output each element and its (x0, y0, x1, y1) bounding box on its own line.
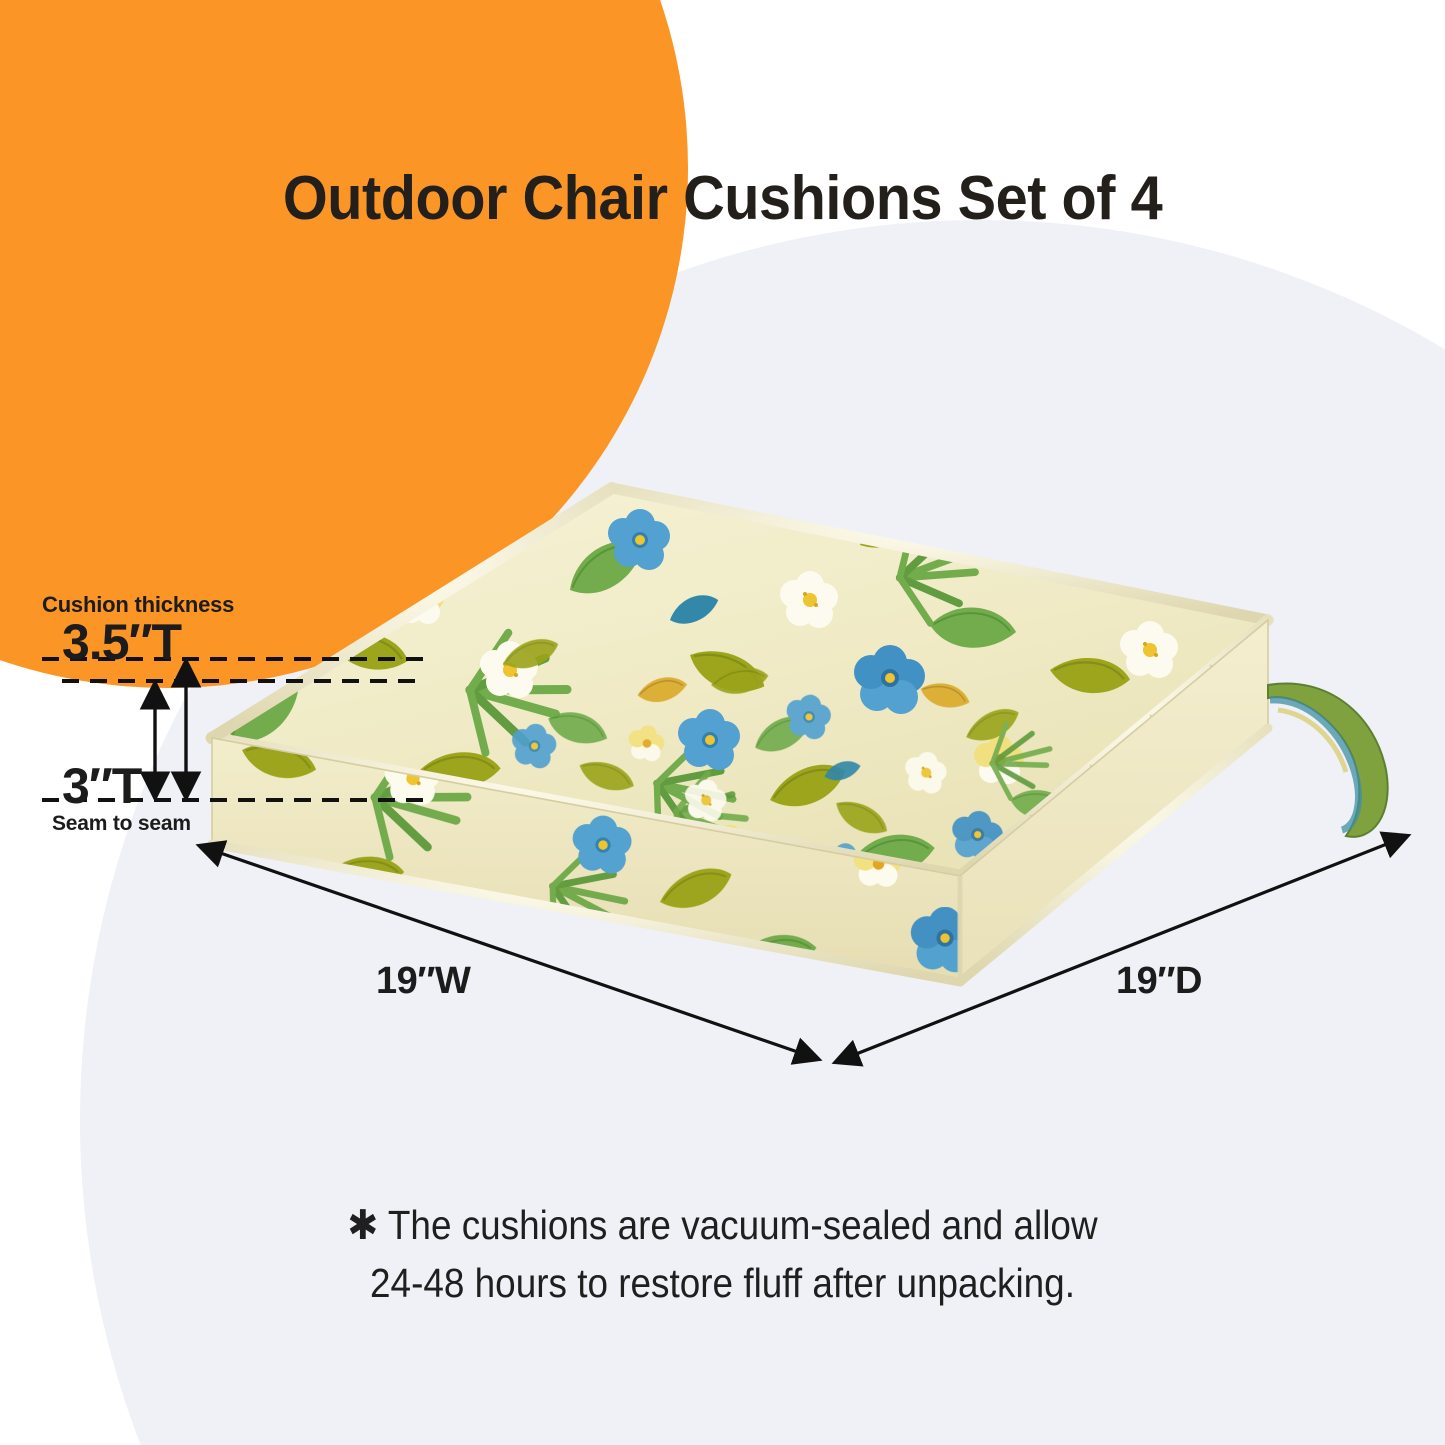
footnote-marker: ✱ (347, 1202, 378, 1248)
infographic-canvas: Outdoor Chair Cushions Set of 4 (0, 0, 1445, 1445)
footnote-line-2: 24-48 hours to restore fluff after unpac… (72, 1254, 1373, 1312)
footnote: ✱ The cushions are vacuum-sealed and all… (72, 1196, 1373, 1312)
footnote-line-1: ✱ The cushions are vacuum-sealed and all… (72, 1196, 1373, 1254)
label-seam-to-seam: Seam to seam (52, 812, 191, 836)
cushion-tie-strap (1268, 683, 1388, 836)
cushion-illustration (150, 470, 1445, 1110)
label-depth: 19″D (1116, 960, 1202, 1003)
label-seam-value: 3″T (62, 757, 141, 815)
page-title: Outdoor Chair Cushions Set of 4 (51, 163, 1395, 234)
label-thickness-value: 3.5″T (62, 613, 181, 671)
label-width: 19″W (376, 960, 470, 1003)
footnote-text-1: The cushions are vacuum-sealed and allow (388, 1202, 1098, 1248)
